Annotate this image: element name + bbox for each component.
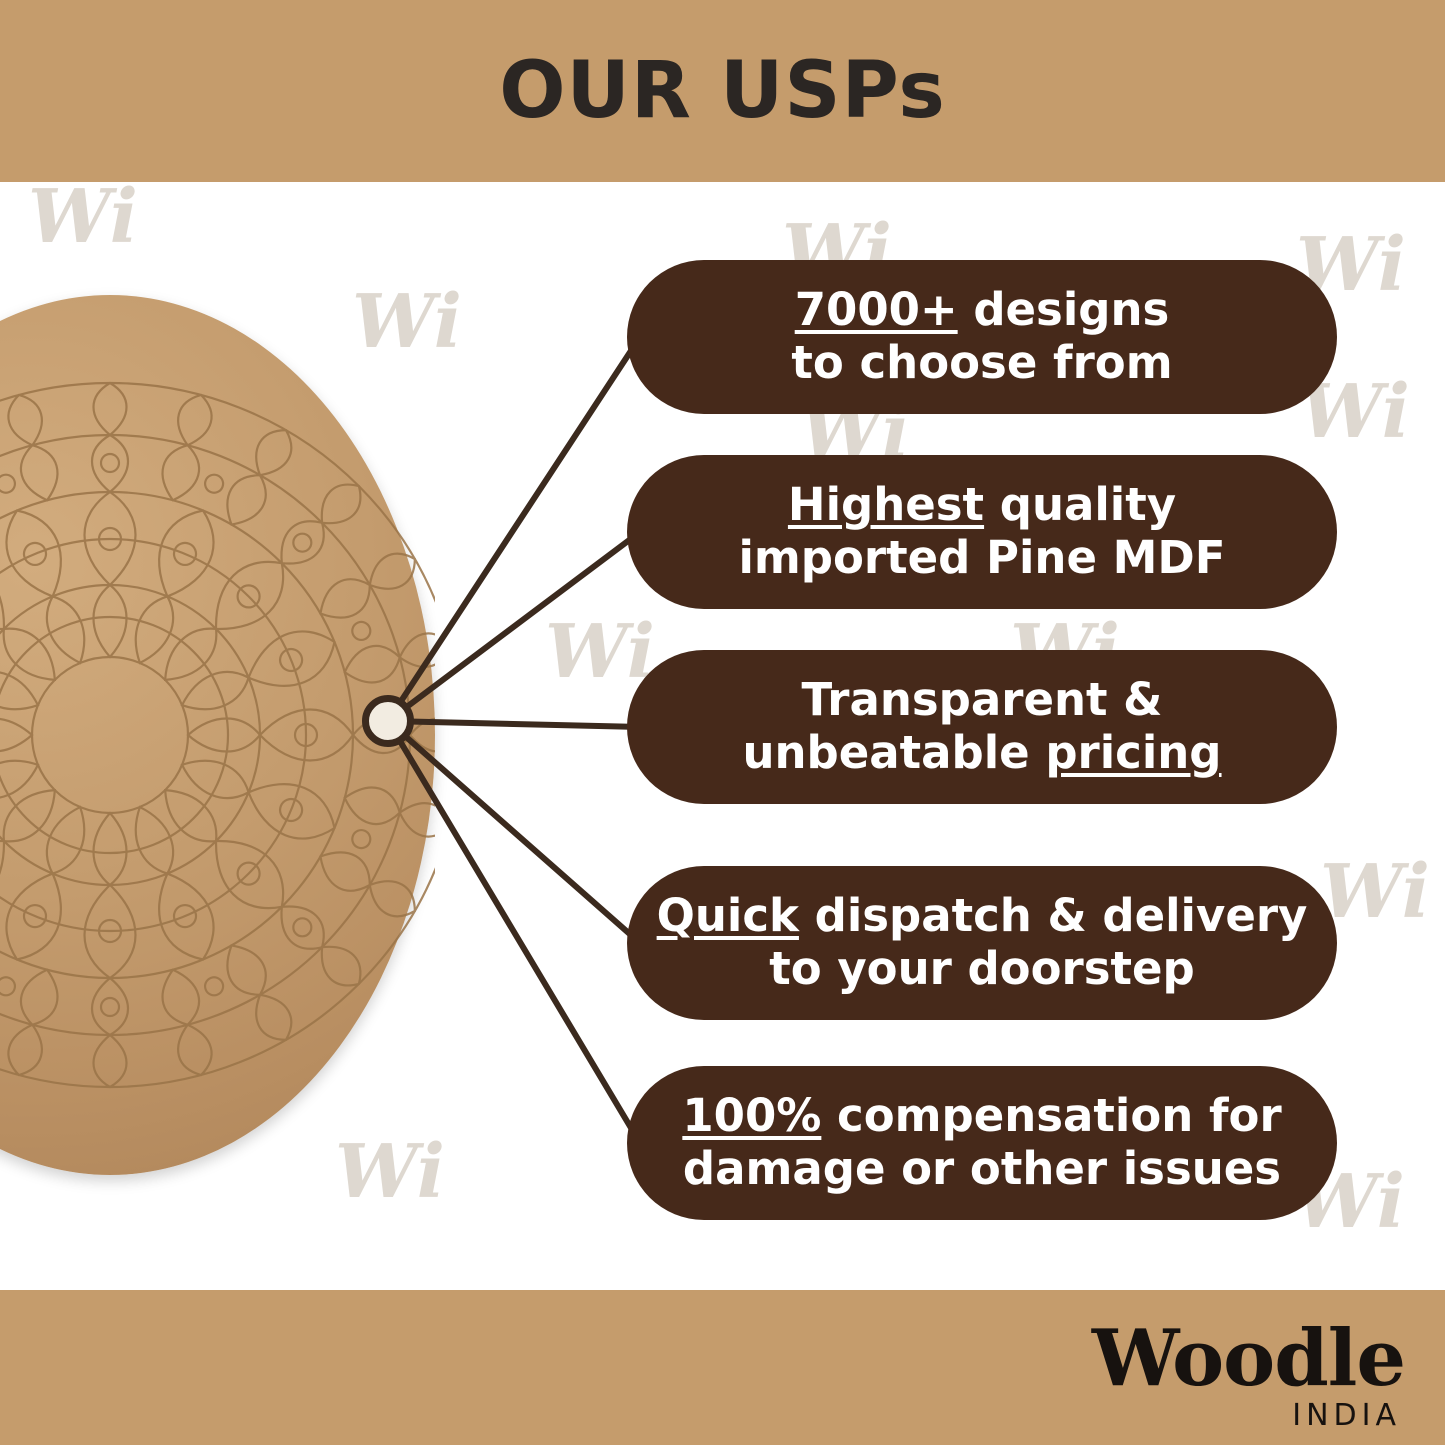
usp-pill-line: 100% compensation for [682, 1090, 1281, 1143]
usp-pill-line: imported Pine MDF [738, 532, 1225, 585]
usp-pill-line: Highest quality [788, 479, 1176, 532]
usp-text: damage or other issues [683, 1142, 1281, 1195]
usp-highlight: pricing [1045, 726, 1221, 779]
usp-pill-compensation: 100% compensation fordamage or other iss… [627, 1066, 1337, 1220]
usp-pill-line: Quick dispatch & delivery [657, 890, 1308, 943]
usp-pill-designs: 7000+ designsto choose from [627, 260, 1337, 414]
usp-text: imported Pine MDF [738, 531, 1225, 584]
usp-text: quality [984, 478, 1176, 531]
usp-highlight: 100% [682, 1089, 821, 1142]
infographic-canvas: WiWiWiWiWiWiWiWiWiWiWi OUR USPs [0, 0, 1445, 1445]
usp-highlight: 7000+ [795, 283, 958, 336]
usp-highlight: Highest [788, 478, 984, 531]
usp-pill-line: 7000+ designs [795, 284, 1170, 337]
usp-pill-line: Transparent & [802, 674, 1163, 727]
usp-pill-line: to choose from [791, 337, 1172, 390]
usp-pill-line: unbeatable pricing [742, 727, 1221, 780]
usp-pill-quality: Highest qualityimported Pine MDF [627, 455, 1337, 609]
usp-pill-line: damage or other issues [683, 1143, 1281, 1196]
usp-text: Transparent & [802, 673, 1163, 726]
usp-highlight: Quick [657, 889, 799, 942]
usp-text: unbeatable [742, 726, 1045, 779]
usp-pill-dispatch: Quick dispatch & deliveryto your doorste… [627, 866, 1337, 1020]
usp-text: designs [958, 283, 1170, 336]
hub-node [362, 695, 414, 747]
usp-text: to choose from [791, 336, 1172, 389]
brand-logo: Woodle INDIA [1092, 1322, 1405, 1433]
usp-pill-pricing: Transparent &unbeatable pricing [627, 650, 1337, 804]
usp-text: to your doorstep [769, 942, 1195, 995]
usp-text: dispatch & delivery [799, 889, 1307, 942]
usp-pill-line: to your doorstep [769, 943, 1195, 996]
usp-text: compensation for [821, 1089, 1281, 1142]
logo-wordmark: Woodle [1092, 1322, 1405, 1396]
